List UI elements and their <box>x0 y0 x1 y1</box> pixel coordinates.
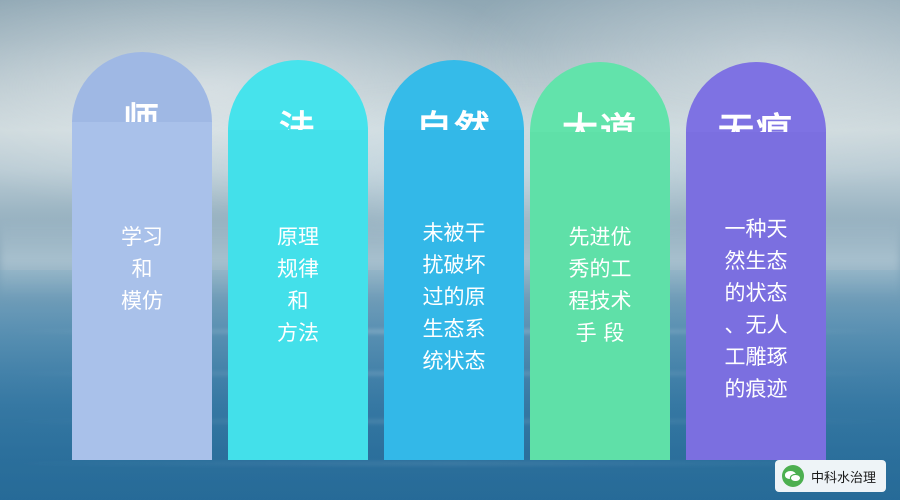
pillar-2[interactable]: 法 原理 规律 和 方法 <box>228 60 368 460</box>
pillar-5-description: 一种天 然生态 的状态 、无人 工雕琢 的痕迹 <box>686 214 826 405</box>
pillar-2-body: 原理 规律 和 方法 <box>228 130 368 460</box>
wechat-icon <box>782 465 804 487</box>
pillar-1[interactable]: 师 学习 和 模仿 <box>72 52 212 460</box>
slide-canvas: 师 学习 和 模仿 法 原理 规律 和 方法 自然 未被干 扰破坏 过的原 生态… <box>0 0 900 500</box>
pillar-3[interactable]: 自然 未被干 扰破坏 过的原 生态系 统状态 <box>384 60 524 460</box>
pillar-1-description: 学习 和 模仿 <box>72 222 212 318</box>
pillar-3-description: 未被干 扰破坏 过的原 生态系 统状态 <box>384 218 524 378</box>
pillar-5[interactable]: 无痕 一种天 然生态 的状态 、无人 工雕琢 的痕迹 <box>686 62 826 460</box>
pillar-4-description: 先进优 秀的工 程技术 手 段 <box>530 222 670 350</box>
pillar-2-description: 原理 规律 和 方法 <box>228 222 368 350</box>
pillar-group: 师 学习 和 模仿 法 原理 规律 和 方法 自然 未被干 扰破坏 过的原 生态… <box>0 0 900 500</box>
watermark-label: 中科水治理 <box>811 467 876 486</box>
pillar-4[interactable]: 大道 先进优 秀的工 程技术 手 段 <box>530 62 670 460</box>
pillar-1-body: 学习 和 模仿 <box>72 122 212 460</box>
pillar-3-body: 未被干 扰破坏 过的原 生态系 统状态 <box>384 130 524 460</box>
pillar-4-body: 先进优 秀的工 程技术 手 段 <box>530 132 670 460</box>
pillar-5-body: 一种天 然生态 的状态 、无人 工雕琢 的痕迹 <box>686 132 826 460</box>
watermark-badge: 中科水治理 <box>775 460 886 492</box>
